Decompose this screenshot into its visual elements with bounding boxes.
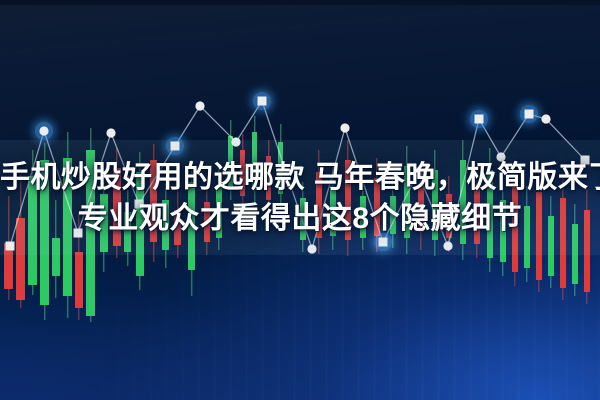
trend-node-circle [195, 101, 204, 110]
trend-node-square [6, 242, 15, 251]
trend-node-square [171, 142, 180, 151]
trend-node-square [525, 110, 534, 119]
trend-node-circle [39, 126, 48, 135]
trend-node-square [258, 97, 267, 106]
trend-node-circle [443, 241, 452, 250]
top-edge-bar [0, 0, 600, 5]
trend-node-circle [106, 128, 115, 137]
headline-line-2: 专业观众才看得出这8个隐藏细节 [0, 201, 600, 238]
trend-node-square [475, 115, 484, 124]
trend-node-circle [541, 114, 550, 123]
trend-node-circle [231, 137, 240, 146]
promo-banner: 手机炒股好用的选哪款 马年春晚，极简版来了! 专业观众才看得出这8个隐藏细节 [0, 0, 600, 400]
trend-node-square [379, 238, 388, 247]
trend-node-circle [340, 123, 349, 132]
headline-line-1: 手机炒股好用的选哪款 马年春晚，极简版来了! [0, 160, 600, 197]
trend-node-circle [307, 244, 316, 253]
headline: 手机炒股好用的选哪款 马年春晚，极简版来了! 专业观众才看得出这8个隐藏细节 [0, 160, 600, 237]
